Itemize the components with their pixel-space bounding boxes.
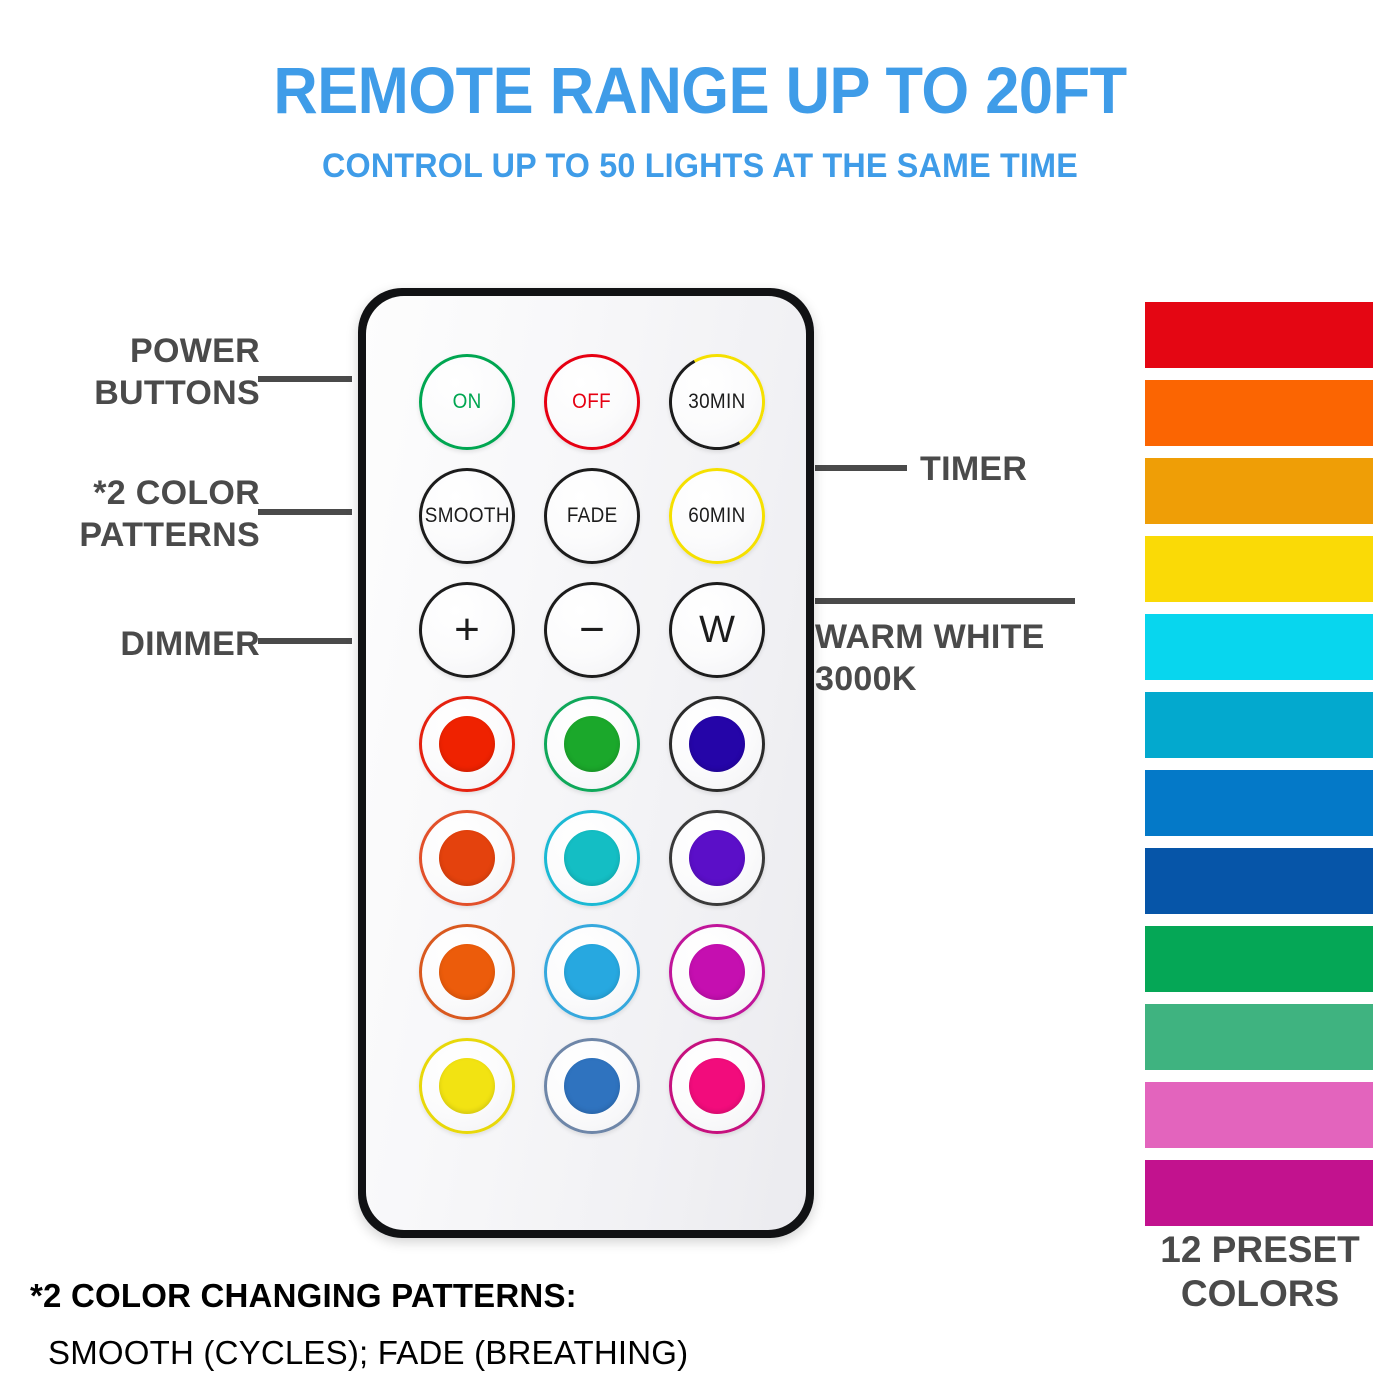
remote-control: ONOFF30MINSMOOTHFADE60MIN+−W — [358, 288, 814, 1238]
on-button[interactable]: ON — [419, 354, 515, 450]
smooth-button[interactable]: SMOOTH — [419, 468, 515, 564]
timer-60min-button-label: 60MIN — [688, 504, 745, 528]
off-button-label: OFF — [573, 390, 612, 414]
swatch-orange — [1145, 380, 1373, 446]
callout-dimmer: DIMMER — [20, 623, 260, 665]
color-button-green-swatch — [564, 716, 620, 772]
color-button-red[interactable] — [419, 696, 515, 792]
remote-face: ONOFF30MINSMOOTHFADE60MIN+−W — [366, 296, 806, 1230]
color-button-red-orange[interactable] — [419, 810, 515, 906]
leader-line-warm-white — [815, 598, 1075, 604]
color-button-green[interactable] — [544, 696, 640, 792]
page-title: REMOTE RANGE UP TO 20FT — [49, 52, 1351, 128]
callout-power-buttons: POWER BUTTONS — [20, 330, 260, 414]
leader-line-dimmer — [258, 638, 352, 644]
callout-timer: TIMER — [920, 448, 1180, 490]
swatch-green — [1145, 926, 1373, 992]
color-button-navy[interactable] — [669, 696, 765, 792]
footnote-title: *2 COLOR CHANGING PATTERNS: — [30, 1277, 577, 1315]
smooth-button-label: SMOOTH — [424, 504, 509, 528]
color-button-orange-swatch — [439, 944, 495, 1000]
color-button-teal-swatch — [564, 830, 620, 886]
on-button-label: ON — [452, 390, 481, 414]
color-button-red-orange-swatch — [439, 830, 495, 886]
off-button[interactable]: OFF — [544, 354, 640, 450]
timer-30min-button[interactable]: 30MIN — [669, 354, 765, 450]
page-subtitle: CONTROL UP TO 50 LIGHTS AT THE SAME TIME — [35, 147, 1365, 186]
color-button-yellow[interactable] — [419, 1038, 515, 1134]
color-button-yellow-swatch — [439, 1058, 495, 1114]
callout-warm-white: WARM WHITE 3000K — [815, 616, 1115, 700]
color-button-blue-swatch — [564, 1058, 620, 1114]
swatch-blue — [1145, 770, 1373, 836]
swatch-royal-blue — [1145, 848, 1373, 914]
swatch-amber — [1145, 458, 1373, 524]
color-button-violet-swatch — [689, 830, 745, 886]
preset-colors-caption: 12 PRESET COLORS — [1100, 1228, 1400, 1317]
color-button-blue[interactable] — [544, 1038, 640, 1134]
swatch-turquoise — [1145, 692, 1373, 758]
fade-button-label: FADE — [567, 504, 618, 528]
fade-button[interactable]: FADE — [544, 468, 640, 564]
footnote-detail: SMOOTH (CYCLES); FADE (BREATHING) — [48, 1334, 688, 1372]
swatch-orchid — [1145, 1082, 1373, 1148]
callout-color-patterns: *2 COLOR PATTERNS — [20, 472, 260, 556]
brightness-up-button-label: + — [454, 605, 480, 655]
color-button-orange[interactable] — [419, 924, 515, 1020]
color-button-teal[interactable] — [544, 810, 640, 906]
brightness-up-button[interactable]: + — [419, 582, 515, 678]
swatch-sea-green — [1145, 1004, 1373, 1070]
color-button-sky-blue[interactable] — [544, 924, 640, 1020]
leader-line-color-patterns — [258, 509, 352, 515]
color-button-red-swatch — [439, 716, 495, 772]
swatch-cyan — [1145, 614, 1373, 680]
color-button-navy-swatch — [689, 716, 745, 772]
swatch-magenta — [1145, 1160, 1373, 1226]
color-button-violet[interactable] — [669, 810, 765, 906]
timer-60min-button[interactable]: 60MIN — [669, 468, 765, 564]
color-button-magenta[interactable] — [669, 924, 765, 1020]
leader-line-timer — [815, 465, 907, 471]
color-button-sky-blue-swatch — [564, 944, 620, 1000]
swatch-red — [1145, 302, 1373, 368]
brightness-down-button-label: − — [579, 605, 605, 655]
remote-keypad: ONOFF30MINSMOOTHFADE60MIN+−W — [366, 296, 806, 1230]
color-button-pink[interactable] — [669, 1038, 765, 1134]
warm-white-button-label: W — [699, 609, 735, 652]
timer-30min-button-label: 30MIN — [688, 390, 745, 414]
color-button-pink-swatch — [689, 1058, 745, 1114]
leader-line-power-buttons — [258, 376, 352, 382]
brightness-down-button[interactable]: − — [544, 582, 640, 678]
warm-white-button[interactable]: W — [669, 582, 765, 678]
color-button-magenta-swatch — [689, 944, 745, 1000]
swatch-yellow — [1145, 536, 1373, 602]
